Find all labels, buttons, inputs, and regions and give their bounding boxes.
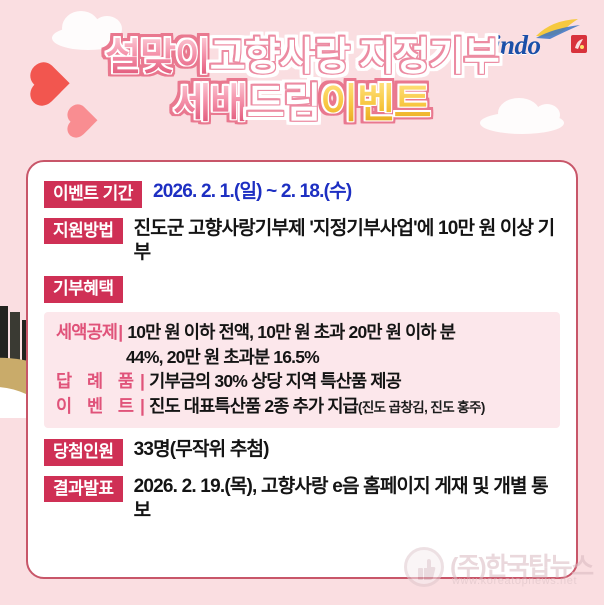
benefit-separator: | [117, 321, 127, 344]
benefit-label-gift: 답 례 품 [56, 370, 139, 393]
badge-event-period: 이벤트 기간 [44, 181, 142, 208]
headline-word-seolmaji: 설맞이 [105, 38, 210, 77]
benefit-line-tax-deduction: 세액공제 | 10만 원 이하 전액, 10만 원 초과 20만 원 이하 분 [56, 321, 548, 344]
thumbs-up-icon [404, 547, 444, 587]
benefit-text-event-highlight: 특산품 2종 추가 지급 [214, 395, 358, 418]
headline-line-1: 설맞이고향사랑 지정기부 [0, 38, 604, 77]
benefit-line-gift: 답 례 품 | 기부금의 30% 상당 지역 특산품 제공 [56, 370, 548, 393]
benefit-line-event: 이 벤 트 | 진도 대표 특산품 2종 추가 지급 (진도 곱창김, 진도 홍… [56, 395, 548, 418]
benefit-text-tax-deduction-1: 10만 원 이하 전액, 10만 원 초과 20만 원 이하 분 [127, 321, 455, 344]
benefit-block: 세액공제 | 10만 원 이하 전액, 10만 원 초과 20만 원 이하 분 … [44, 312, 560, 428]
value-result-announcement: 2026. 2. 19.(목), 고향사랑 e음 홈페이지 게재 및 개별 통보 [134, 475, 560, 524]
info-card: 이벤트 기간 2026. 2. 1.(일) ~ 2. 18.(수) 지원방법 진… [26, 160, 578, 579]
benefit-separator: | [139, 370, 149, 393]
benefit-line-tax-deduction-cont: 44%, 20만 원 초과분 16.5% [56, 346, 548, 369]
thumbs-up-glyph [418, 558, 436, 582]
badge-result-announcement: 결과발표 [44, 476, 123, 503]
watermark-url: www.koreatopnews.net [452, 575, 577, 587]
watermark: (주)한국탑뉴스 www.koreatopnews.net [404, 539, 590, 597]
row-winners-count: 당첨인원 33명(무작위 추첨) [44, 438, 560, 466]
row-event-period: 이벤트 기간 2026. 2. 1.(일) ~ 2. 18.(수) [44, 180, 560, 208]
benefit-text-event-prefix: 진도 대표 [149, 395, 214, 418]
benefit-text-event-note: (진도 곱창김, 진도 홍주) [358, 399, 485, 417]
row-application-method: 지원방법 진도군 고향사랑기부제 '지정기부사업'에 10만 원 이상 기부 [44, 217, 560, 266]
headline-word-gohyangsarang: 고향사랑 지정기부 [210, 38, 499, 77]
benefit-text-tax-deduction-2: 44%, 20만 원 초과분 16.5% [126, 346, 319, 369]
promotional-poster: Jindo 설맞이고향사랑 지정기부 세배드림이벤트 이벤트 기간 2026. … [0, 0, 604, 605]
value-application-method: 진도군 고향사랑기부제 '지정기부사업'에 10만 원 이상 기부 [134, 217, 560, 266]
headline: 설맞이고향사랑 지정기부 세배드림이벤트 [0, 38, 604, 124]
benefit-separator: | [139, 395, 149, 418]
benefit-label-event: 이 벤 트 [56, 395, 139, 418]
row-result-announcement: 결과발표 2026. 2. 19.(목), 고향사랑 e음 홈페이지 게재 및 … [44, 475, 560, 524]
headline-line-2: 세배드림이벤트 [0, 83, 604, 124]
badge-winners-count: 당첨인원 [44, 439, 123, 466]
badge-donation-benefit: 기부혜택 [44, 276, 123, 303]
row-donation-benefit-header: 기부혜택 [44, 275, 560, 303]
badge-application-method: 지원방법 [44, 218, 123, 245]
value-winners-count: 33명(무작위 추첨) [134, 438, 269, 463]
value-event-period: 2026. 2. 1.(일) ~ 2. 18.(수) [153, 180, 351, 205]
benefit-label-tax-deduction: 세액공제 [56, 321, 117, 344]
headline-word-event: 이벤트 [320, 83, 430, 124]
benefit-text-gift: 기부금의 30% 상당 지역 특산품 제공 [149, 370, 401, 393]
headline-word-sebae: 세배 [173, 83, 246, 124]
headline-word-dream: 드림 [247, 83, 320, 124]
